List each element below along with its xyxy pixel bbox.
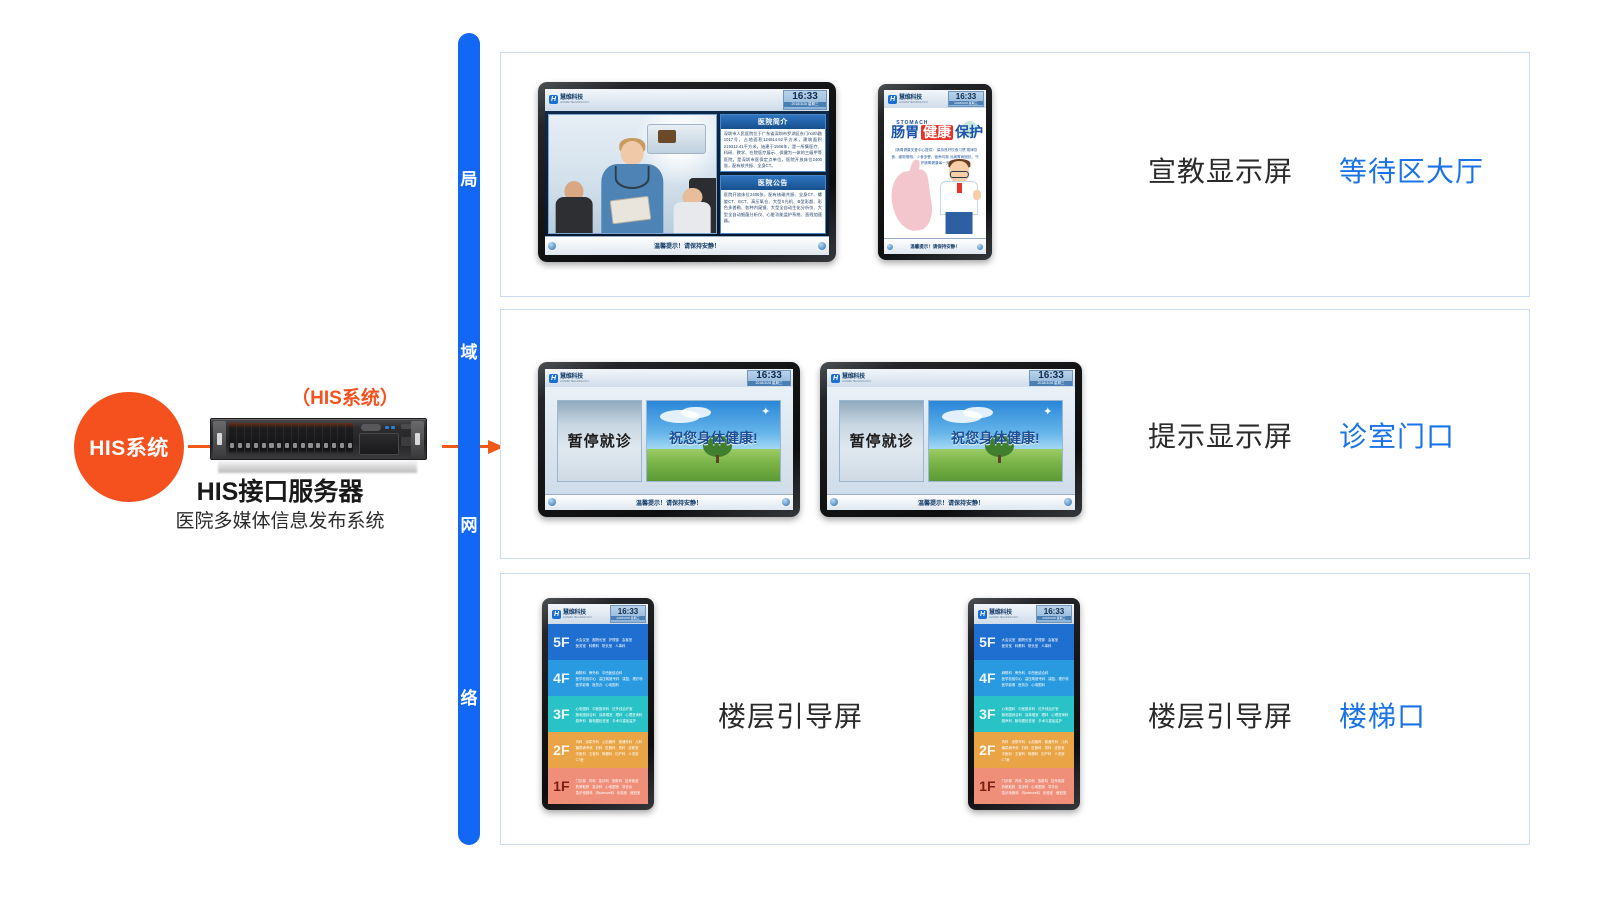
lan-char-1: 局 <box>461 171 478 188</box>
notice-monitor-left: H 慧维科技 HUIWEI TECHNOLOGY 16:33 2018/3/28… <box>538 362 800 517</box>
greeting-text: 祝您身体健康! <box>929 428 1062 448</box>
globe-icon <box>887 244 893 250</box>
clinic-status-text: 暂停就诊 <box>568 430 632 451</box>
brand-name-en: HUIWEI TECHNOLOGY <box>842 380 871 383</box>
poster-title: 肠胃 健康 保护 <box>891 125 983 140</box>
floor-row: 5F 大会议室副院长室护理部会客室医务室科教科院长室人事科 <box>548 624 648 660</box>
screen-clock: 16:33 2018/3/28 星期三 <box>610 605 646 623</box>
poster-screen: H 慧维科技 HUIWEI TECHNOLOGY 16:33 2018/3/28… <box>884 90 986 254</box>
floor-number: 3F <box>551 706 572 722</box>
floor-number: 2F <box>551 742 572 758</box>
screen-header-bar: H 慧维科技 HUIWEI TECHNOLOGY 16:33 2018/3/28… <box>545 369 793 388</box>
floor-row: 5F 大会议室副院长室护理部会客室医务室科教科院长室人事科 <box>974 624 1074 660</box>
clock-time: 16:33 <box>618 608 638 616</box>
screen-header-bar: H 慧维科技 HUIWEI TECHNOLOGY 16:33 2018/3/28… <box>884 90 986 109</box>
his-link-tag: （HIS系统） <box>245 383 445 410</box>
star-icon: ✦ <box>1043 407 1052 418</box>
floor-departments: 心电图科中医推拿科红外线治疗室脑电图综合科耳鼻喉室眼科心理咨询科超声科脑电图检查… <box>576 706 645 723</box>
floor-guide-screen-left: H 慧维科技 HUIWEI TECHNOLOGY 16:33 2018/3/28… <box>548 604 648 804</box>
hospital-notice-card: 医院公告 医院开放床位2400张，配有核磁共振、全身CT、螺旋CT、ECT、高压… <box>720 175 826 234</box>
education-landscape-monitor: H 慧维科技 HUIWEI TECHNOLOGY 16:33 2018/3/28… <box>538 82 836 262</box>
screen-clock: 16:33 2018/3/28 星期三 <box>948 91 984 107</box>
brand-name-en: HUIWEI TECHNOLOGY <box>563 616 592 619</box>
clinic-status-text: 暂停就诊 <box>850 430 914 451</box>
brand-mark-icon: H <box>978 610 987 619</box>
clock-time: 16:33 <box>1044 608 1064 616</box>
brand-logo: H 慧维科技 HUIWEI TECHNOLOGY <box>888 95 928 104</box>
screen-clock: 16:33 2018/3/28 星期三 <box>1036 605 1072 623</box>
poster-title-part-1: 肠胃 <box>891 125 919 139</box>
lan-char-3: 网 <box>461 517 478 534</box>
floor-number: 1F <box>977 778 998 794</box>
lan-char-4: 络 <box>461 690 478 707</box>
floor-row: 2F 内科泌尿外科心血管科普通外科儿科糖尿病专科妇科肛肠科男科皮肤室中医科五官科… <box>974 732 1074 768</box>
notice-screen-left: H 慧维科技 HUIWEI TECHNOLOGY 16:33 2018/3/28… <box>545 369 793 510</box>
floor-number: 3F <box>977 706 998 722</box>
his-system-label: HIS系统 <box>89 432 169 462</box>
brand-mark-icon: H <box>831 374 840 383</box>
greeting-scene: ✦ 祝您身体健康! <box>928 400 1063 482</box>
his-source-group: HIS系统 （HIS系统） <box>70 380 460 560</box>
brand-name-en: HUIWEI TECHNOLOGY <box>989 616 1018 619</box>
clock-date: 2018/3/28 星期三 <box>1037 616 1071 620</box>
clock-date: 2018/3/28 星期三 <box>949 101 983 105</box>
education-screen: H 慧维科技 HUIWEI TECHNOLOGY 16:33 2018/3/28… <box>545 89 829 255</box>
ticker-text: 温馨提示！请保持安静！ <box>918 498 984 507</box>
hospital-intro-text: 深圳市人民医院位于广东省深圳市罗湖区东门north路1017号，占地面积1249… <box>721 129 825 172</box>
brand-mark-icon: H <box>552 610 561 619</box>
globe-icon <box>548 498 556 506</box>
hospital-intro-card: 医院简介 深圳市人民医院位于广东省深圳市罗湖区东门north路1017号，占地面… <box>720 114 826 173</box>
screen-header-bar: H 慧维科技 HUIWEI TECHNOLOGY 16:33 2018/3/28… <box>974 604 1074 625</box>
brand-logo: H 慧维科技 HUIWEI TECHNOLOGY <box>549 95 589 104</box>
floor-number: 1F <box>551 778 572 794</box>
doctor-photo <box>548 114 717 234</box>
server-subtitle: 医院多媒体信息发布系统 <box>95 506 465 533</box>
panel-1-labels: 提示显示屏 诊室门口 <box>1148 415 1455 455</box>
globe-icon <box>818 242 826 250</box>
server-drive-bays <box>229 423 353 455</box>
floor-departments: 麻醉科骨外科中西医结合科医学检验中心高压氧舱专科康复、理疗科医学影像医务办心电图… <box>576 670 645 687</box>
panel-2-type-label: 楼层引导屏 <box>1148 695 1293 735</box>
globe-icon <box>977 244 983 250</box>
hospital-notice-text: 医院开放床位2400张，配有核磁共振、全身CT、螺旋CT、ECT、高压氧仓、大型… <box>721 190 825 233</box>
floor-number: 5F <box>551 634 572 650</box>
screen-header-bar: H 慧维科技 HUIWEI TECHNOLOGY 16:33 2018/3/28… <box>827 369 1075 388</box>
screen-ticker-bar: 温馨提示！请保持安静！ <box>545 494 793 511</box>
lan-network-bar: 局 域 网 络 <box>458 33 480 845</box>
doctor-illustration-icon <box>939 161 980 234</box>
brand-logo: H 慧维科技 HUIWEI TECHNOLOGY <box>978 610 1018 619</box>
panel-2-place-label: 楼梯口 <box>1339 695 1426 735</box>
hospital-notice-title: 医院公告 <box>721 176 825 190</box>
screen-clock: 16:33 2018/3/28 星期三 <box>1029 370 1073 386</box>
brand-logo: H 慧维科技 HUIWEI TECHNOLOGY <box>549 374 589 383</box>
lan-char-2: 域 <box>461 344 478 361</box>
diagram-canvas: HIS系统 （HIS系统） <box>0 0 1600 901</box>
floor-directory-list: 5F 大会议室副院长室护理部会客室医务室科教科院长室人事科 4F 麻醉科骨外科中… <box>974 624 1074 804</box>
ticker-text: 温馨提示！请保持安静！ <box>910 244 960 250</box>
screen-ticker-bar: 温馨提示！请保持安静！ <box>884 238 986 254</box>
clock-date: 2018/3/28 星期三 <box>748 381 790 386</box>
floor-departments: 内科泌尿外科心血管科普通外科儿科糖尿病专科妇科肛肠科男科皮肤室中医科五官科肿瘤科… <box>1002 739 1071 762</box>
clinic-status-block: 暂停就诊 <box>839 400 924 482</box>
brand-logo: H 慧维科技 HUIWEI TECHNOLOGY <box>831 374 871 383</box>
floor-row: 4F 麻醉科骨外科中西医结合科医学检验中心高压氧舱专科康复、理疗科医学影像医务办… <box>974 660 1074 696</box>
floor-departments: 大会议室副院长室护理部会客室医务室科教科院长室人事科 <box>576 637 645 648</box>
panel-2-labels: 楼层引导屏 楼梯口 <box>1148 695 1426 735</box>
floor-row: 1F 门诊部内科急诊科放射科挂号收费药房取药急诊科心电图室导诊台急诊抢救科内sc… <box>548 768 648 804</box>
globe-icon <box>782 498 790 506</box>
floor-guide-monitor-right: H 慧维科技 HUIWEI TECHNOLOGY 16:33 2018/3/28… <box>968 598 1080 810</box>
brand-mark-icon: H <box>549 95 558 104</box>
brand-name-en: HUIWEI TECHNOLOGY <box>560 101 589 104</box>
floor-guide-screen-right: H 慧维科技 HUIWEI TECHNOLOGY 16:33 2018/3/28… <box>974 604 1074 804</box>
floor-row: 4F 麻醉科骨外科中西医结合科医学检验中心高压氧舱专科康复、理疗科医学影像医务办… <box>548 660 648 696</box>
panel-0-type-label: 宣教显示屏 <box>1148 150 1293 190</box>
floor-guide-monitor-left: H 慧维科技 HUIWEI TECHNOLOGY 16:33 2018/3/28… <box>542 598 654 810</box>
brand-logo: H 慧维科技 HUIWEI TECHNOLOGY <box>552 610 592 619</box>
globe-icon <box>1064 498 1072 506</box>
clock-time: 16:33 <box>956 93 976 101</box>
floor-departments: 门诊部内科急诊科放射科挂号收费药房取药急诊科心电图室导诊台急诊抢救科内scien… <box>576 778 645 795</box>
screen-header-bar: H 慧维科技 HUIWEI TECHNOLOGY 16:33 2018/3/28… <box>545 89 829 112</box>
brand-name-en: HUIWEI TECHNOLOGY <box>560 380 589 383</box>
clock-date: 2018/3/28 星期三 <box>784 102 826 107</box>
greeting-text: 祝您身体健康! <box>647 428 780 448</box>
brand-mark-icon: H <box>888 95 897 104</box>
screen-ticker-bar: 温馨提示！请保持安静！ <box>545 236 829 255</box>
stomach-health-poster: STOMACH 肠胃 健康 保护 （肠胃健康关爱中心提供） 保持良好饮食习惯 规… <box>884 108 986 239</box>
floor-row: 1F 门诊部内科急诊科放射科挂号收费药房取药急诊科心电图室导诊台急诊抢救科内sc… <box>974 768 1074 804</box>
panel-0-labels: 宣教显示屏 等待区大厅 <box>1148 150 1484 190</box>
panel-2-type-label-left: 楼层引导屏 <box>718 695 863 735</box>
floor-departments: 心电图科中医推拿科红外线治疗室脑电图综合科耳鼻喉室眼科心理咨询科超声科脑电图检查… <box>1002 706 1071 723</box>
hospital-info-column: 医院简介 深圳市人民医院位于广东省深圳市罗湖区东门north路1017号，占地面… <box>720 114 826 234</box>
education-portrait-monitor: H 慧维科技 HUIWEI TECHNOLOGY 16:33 2018/3/28… <box>878 84 992 260</box>
clinic-status-block: 暂停就诊 <box>557 400 642 482</box>
clock-time: 16:33 <box>756 371 782 381</box>
floor-row: 3F 心电图科中医推拿科红外线治疗室脑电图综合科耳鼻喉室眼科心理咨询科超声科脑电… <box>974 696 1074 732</box>
globe-icon <box>548 242 556 250</box>
floor-departments: 麻醉科骨外科中西医结合科医学检验中心高压氧舱专科康复、理疗科医学影像医务办心电图… <box>1002 670 1071 687</box>
floor-departments: 大会议室副院长室护理部会客室医务室科教科院长室人事科 <box>1002 637 1071 648</box>
floor-number: 4F <box>977 670 998 686</box>
stomach-illustration-icon <box>888 169 935 234</box>
floor-departments: 内科泌尿外科心血管科普通外科儿科糖尿病专科妇科肛肠科男科皮肤室中医科五官科肿瘤科… <box>576 739 645 762</box>
screen-header-bar: H 慧维科技 HUIWEI TECHNOLOGY 16:33 2018/3/28… <box>548 604 648 625</box>
screen-clock: 16:33 2018/3/28 星期三 <box>747 370 791 386</box>
greeting-scene: ✦ 祝您身体健康! <box>646 400 781 482</box>
ticker-text: 温馨提示！请保持安静！ <box>654 241 720 250</box>
floor-number: 4F <box>551 670 572 686</box>
clock-date: 2018/3/28 星期三 <box>1030 381 1072 386</box>
brand-mark-icon: H <box>549 374 558 383</box>
star-icon: ✦ <box>761 407 770 418</box>
floor-directory-list: 5F 大会议室副院长室护理部会客室医务室科教科院长室人事科 4F 麻醉科骨外科中… <box>548 624 648 804</box>
rack-server-icon <box>210 418 425 464</box>
clock-time: 16:33 <box>792 92 818 102</box>
brand-name-en: HUIWEI TECHNOLOGY <box>899 101 928 104</box>
panel-0-place-label: 等待区大厅 <box>1339 150 1484 190</box>
screen-clock: 16:33 2018/3/28 星期三 <box>783 90 827 110</box>
floor-row: 2F 内科泌尿外科心血管科普通外科儿科糖尿病专科妇科肛肠科男科皮肤室中医科五官科… <box>548 732 648 768</box>
hospital-intro-title: 医院简介 <box>721 115 825 129</box>
server-title: HIS接口服务器 <box>115 472 445 508</box>
panel-1-place-label: 诊室门口 <box>1339 415 1455 455</box>
notice-monitor-right: H 慧维科技 HUIWEI TECHNOLOGY 16:33 2018/3/28… <box>820 362 1082 517</box>
panel-2-left-label: 楼层引导屏 <box>718 695 863 735</box>
poster-title-part-3: 保护 <box>955 125 983 139</box>
clock-date: 2018/3/28 星期三 <box>611 616 645 620</box>
floor-row: 3F 心电图科中医推拿科红外线治疗室脑电图综合科耳鼻喉室眼科心理咨询科超声科脑电… <box>548 696 648 732</box>
globe-icon <box>830 498 838 506</box>
notice-screen-right: H 慧维科技 HUIWEI TECHNOLOGY 16:33 2018/3/28… <box>827 369 1075 510</box>
panel-1-type-label: 提示显示屏 <box>1148 415 1293 455</box>
floor-number: 2F <box>977 742 998 758</box>
screen-ticker-bar: 温馨提示！请保持安静！ <box>827 494 1075 511</box>
floor-departments: 门诊部内科急诊科放射科挂号收费药房取药急诊科心电图室导诊台急诊抢救科内scien… <box>1002 778 1071 795</box>
clock-time: 16:33 <box>1038 371 1064 381</box>
poster-title-part-2: 健康 <box>921 125 953 140</box>
ticker-text: 温馨提示！请保持安静！ <box>636 498 702 507</box>
floor-number: 5F <box>977 634 998 650</box>
